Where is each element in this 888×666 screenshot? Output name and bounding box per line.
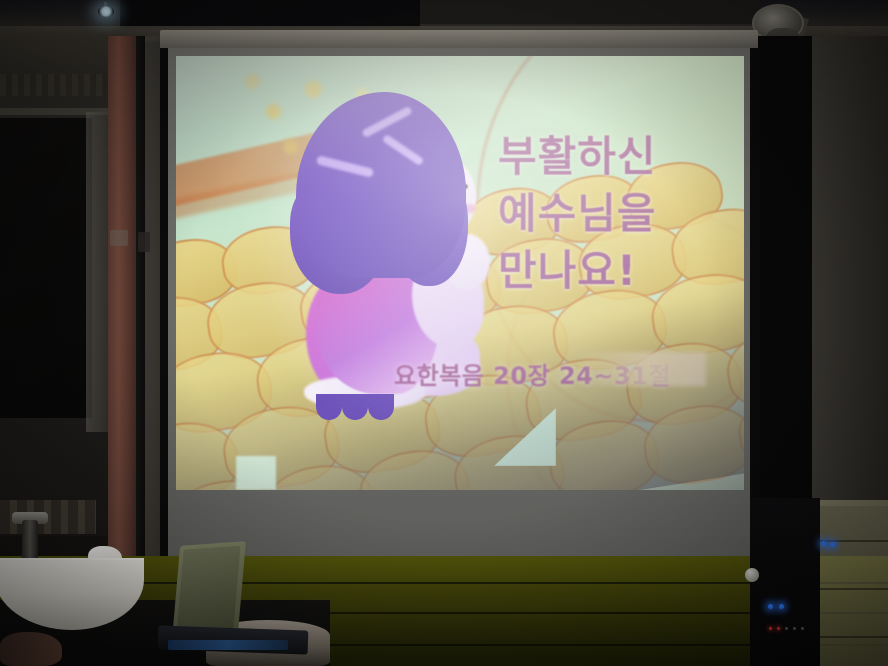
pillar-bracket	[110, 230, 128, 246]
rack-led-dim-1	[785, 627, 788, 630]
slide-subtitle-washout	[576, 352, 706, 386]
projection-screen[interactable]: 부활하신 예수님을 만나요! 요한복음 20장 24~31절	[166, 48, 752, 580]
slide-title-line-3: 만나요!	[498, 242, 734, 299]
rack-volume-knob[interactable]	[745, 568, 759, 582]
rack-led-red-2	[777, 627, 780, 630]
slide-mint-patch-2	[236, 456, 276, 490]
laptop-blue-strip	[168, 640, 288, 650]
open-laptop[interactable]	[172, 541, 246, 639]
pillar-bracket-dark	[138, 232, 150, 252]
rack-led-dim-3	[801, 627, 804, 630]
ceiling-panel-right	[420, 0, 760, 24]
slide-title-block: 부활하신 예수님을 만나요!	[498, 128, 734, 299]
rack-led-blue-2	[830, 542, 835, 547]
room-scene: 부활하신 예수님을 만나요! 요한복음 20장 24~31절	[0, 0, 888, 666]
rack-led-dim-2	[793, 627, 796, 630]
audio-equipment-rack[interactable]	[750, 498, 820, 666]
screen-top-housing	[160, 30, 758, 50]
girl-hair-tip-2	[342, 394, 368, 420]
right-wall-tiles	[816, 500, 888, 666]
screen-right-edge	[750, 48, 760, 568]
right-tile-grout-3	[816, 636, 888, 638]
wall-pillar	[108, 36, 138, 556]
girl-hair-tip-3	[368, 394, 394, 420]
wall-frieze	[0, 74, 104, 96]
rack-led-blue-3	[768, 604, 773, 609]
rack-led-blue-4	[779, 604, 784, 609]
slide-title-line-1: 부활하신	[498, 128, 734, 185]
pillar-shadow-edge	[136, 36, 145, 556]
ceiling-panel-left	[120, 0, 420, 28]
rack-led-blue-1	[821, 541, 826, 546]
dark-alcove	[0, 118, 92, 418]
ceiling-light-icon	[98, 6, 114, 17]
laptop-display	[177, 546, 241, 633]
rack-led-red-1	[769, 627, 772, 630]
right-tile-grout-1	[816, 540, 888, 542]
screen-left-edge	[160, 48, 168, 568]
hand	[0, 632, 62, 666]
faucet[interactable]	[22, 520, 38, 562]
projected-slide: 부활하신 예수님을 만나요! 요한복음 20장 24~31절	[176, 56, 744, 490]
slide-title-line-2: 예수님을	[498, 185, 734, 242]
girl-hair-tip-1	[316, 394, 342, 420]
right-tile-grout-2	[816, 588, 888, 590]
right-grey-wall	[812, 36, 888, 506]
